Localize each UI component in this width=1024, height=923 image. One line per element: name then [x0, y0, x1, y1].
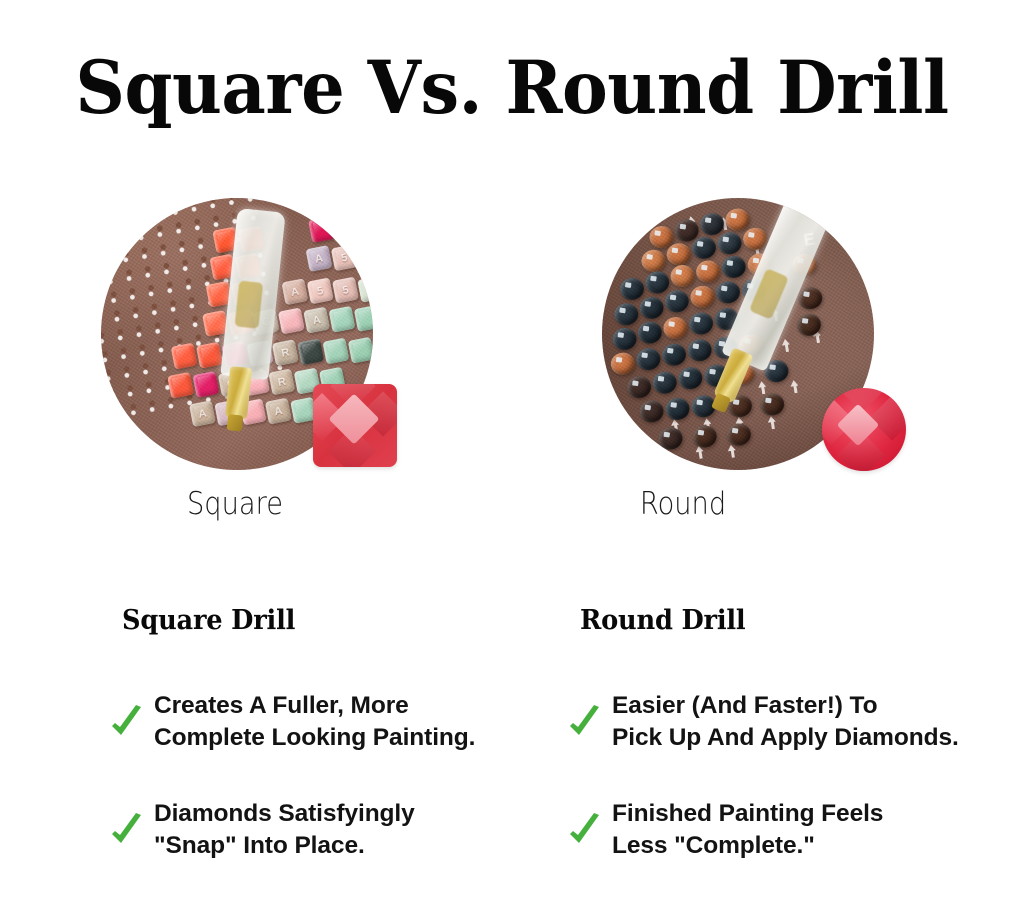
list-item-text: Easier (And Faster!) To Pick Up And Appl…: [612, 690, 959, 754]
bullet-list-round: Easier (And Faster!) To Pick Up And Appl…: [568, 690, 1024, 862]
page-title: Square Vs. Round Drill: [31, 47, 994, 129]
heading-round-drill: Round Drill: [580, 604, 1006, 638]
check-icon: [568, 704, 602, 744]
pen-wax: [749, 268, 789, 320]
column-round-drill: Round Drill Easier (And Faster!) To Pick…: [568, 604, 1024, 906]
list-item: Easier (And Faster!) To Pick Up And Appl…: [568, 690, 1024, 754]
check-icon: [110, 704, 144, 744]
caption-square: Square: [10, 484, 461, 524]
caption-round: Round: [458, 484, 909, 524]
square-gem-sample: [313, 384, 397, 467]
list-item-text: Finished Painting Feels Less "Complete.": [612, 798, 883, 862]
square-drill-photo-cell: 5 A 5 A 5 5 G A: [0, 198, 512, 474]
round-gem-sample: [822, 388, 906, 471]
round-drill-photo-cell: E F: [512, 198, 1024, 474]
heading-square-drill: Square Drill: [122, 604, 548, 638]
check-icon: [568, 812, 602, 852]
comparison-columns: Square Drill Creates A Fuller, More Comp…: [0, 604, 1024, 894]
column-square-drill: Square Drill Creates A Fuller, More Comp…: [110, 604, 570, 906]
check-icon: [110, 812, 144, 852]
list-item-text: Diamonds Satisfyingly "Snap" Into Place.: [154, 798, 415, 862]
list-item: Diamonds Satisfyingly "Snap" Into Place.: [110, 798, 570, 862]
comparison-photo-row: 5 A 5 A 5 5 G A: [0, 198, 1024, 474]
list-item: Finished Painting Feels Less "Complete.": [568, 798, 1024, 862]
list-item: Creates A Fuller, More Complete Looking …: [110, 690, 570, 754]
gem-facet: [869, 395, 906, 440]
bullet-list-square: Creates A Fuller, More Complete Looking …: [110, 690, 570, 862]
pen-wax: [235, 280, 264, 328]
list-item-text: Creates A Fuller, More Complete Looking …: [154, 690, 475, 754]
photo-caption-row: Square Round: [0, 484, 1024, 528]
